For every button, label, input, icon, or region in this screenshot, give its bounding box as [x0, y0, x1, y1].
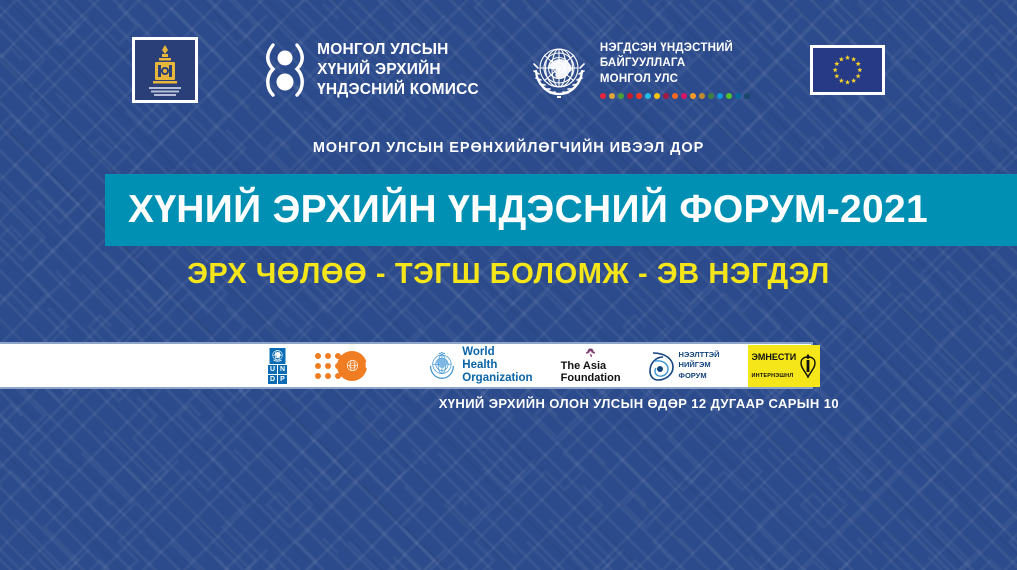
sdg-dot — [600, 93, 606, 99]
title-band: ХҮНИЙ ЭРХИЙН ҮНДЭСНИЙ ФОРУМ-2021 — [105, 174, 1017, 246]
poster-canvas: МОНГОЛ УЛСЫН ХҮНИЙ ЭРХИЙН ҮНДЭСНИЙ КОМИС… — [0, 0, 1017, 570]
un-logo-text: НЭГДСЭН ҮНДЭСТНИЙ БАЙГУУЛЛАГА МОНГОЛ УЛС — [600, 41, 750, 87]
undp-letter: P — [278, 375, 287, 384]
sdg-color-dots — [600, 93, 750, 99]
sdg-dot — [744, 93, 750, 99]
sdg-dot — [618, 93, 624, 99]
european-union-flag — [810, 45, 885, 95]
undp-logo-icon — [269, 348, 286, 364]
un-emblem-small-icon — [345, 358, 360, 373]
sdg-dot — [735, 93, 741, 99]
amnesty-wordmark: ЭМНЕСТИ ИНТЕРНЭШНЛ — [752, 342, 797, 390]
sdg-dot — [645, 93, 651, 99]
open-society-forum-logo-icon — [649, 351, 675, 381]
undp-letter: U — [268, 365, 277, 374]
asia-foundation-wordmark: The Asia Foundation — [561, 360, 621, 384]
international-human-rights-day-line: ХҮНИЙ ЭРХИЙН ОЛОН УЛСЫН ӨДӨР 12 ДУГААР С… — [0, 396, 1017, 411]
page-title: ХҮНИЙ ЭРХИЙН ҮНДЭСНИЙ ФОРУМ-2021 — [128, 188, 928, 232]
undp-letter: N — [278, 365, 287, 374]
human-figure-icon — [264, 42, 306, 98]
eu-flag-icon — [813, 48, 882, 92]
slogan-text: ЭРХ ЧӨЛӨӨ - ТЭГШ БОЛОМЖ - ЭВ НЭГДЭЛ — [0, 258, 1017, 291]
sdg-dot — [627, 93, 633, 99]
amnesty-name: ЭМНЕСТИ — [752, 352, 797, 362]
patronage-line: МОНГОЛ УЛСЫН ЕРӨНХИЙЛӨГЧИЙН ИВЭЭЛ ДОР — [0, 140, 1017, 156]
sdg-dot — [699, 93, 705, 99]
sdg-dot — [708, 93, 714, 99]
sdg-dot — [663, 93, 669, 99]
sdg-dot — [726, 93, 732, 99]
partner-logo-bar: UNDP UNF — [0, 342, 813, 389]
partner-logo-unfpa: UNFPA — [315, 348, 399, 384]
unfpa-circle-mark — [337, 351, 367, 381]
undp-letter: D — [268, 375, 277, 384]
partner-logo-who: World Health Organization — [427, 348, 532, 384]
sdg-dot — [636, 93, 642, 99]
partner-logo-asia-foundation: The Asia Foundation — [561, 348, 621, 384]
header-logo-row: МОНГОЛ УЛСЫН ХҮНИЙ ЭРХИЙН ҮНДЭСНИЙ КОМИС… — [0, 28, 1017, 112]
asia-foundation-logo-icon — [581, 348, 600, 358]
partner-logo-undp: UNDP — [268, 348, 287, 384]
mongolia-soyombo-emblem-icon — [135, 40, 195, 100]
who-wordmark: World Health Organization — [462, 346, 532, 385]
nhrc-mongolia-logo: МОНГОЛ УЛСЫН ХҮНИЙ ЭРХИЙН ҮНДЭСНИЙ КОМИС… — [264, 40, 479, 100]
united-nations-mongolia-logo: НЭГДСЭН ҮНДЭСТНИЙ БАЙГУУЛЛАГА МОНГОЛ УЛС — [527, 38, 750, 102]
nhrc-logo-text: МОНГОЛ УЛСЫН ХҮНИЙ ЭРХИЙН ҮНДЭСНИЙ КОМИС… — [317, 40, 479, 100]
undp-letters: UNDP — [268, 365, 287, 384]
sdg-dot — [681, 93, 687, 99]
amnesty-subname: ИНТЕРНЭШНЛ — [752, 373, 797, 379]
amnesty-candle-icon — [800, 353, 816, 379]
sdg-dot — [654, 93, 660, 99]
unfpa-wordmark: UNFPA — [365, 360, 399, 372]
who-logo-icon — [427, 351, 457, 381]
state-emblem-of-mongolia — [132, 37, 198, 103]
sdg-dot — [717, 93, 723, 99]
sdg-dot — [609, 93, 615, 99]
sdg-dot — [672, 93, 678, 99]
un-emblem-icon — [527, 38, 591, 102]
sdg-dot — [690, 93, 696, 99]
open-society-forum-wordmark: НЭЭЛТТЭЙ НИЙГЭМ ФОРУМ — [679, 350, 720, 380]
partner-logo-open-society-forum: НЭЭЛТТЭЙ НИЙГЭМ ФОРУМ — [649, 348, 720, 384]
partner-logo-amnesty: ЭМНЕСТИ ИНТЕРНЭШНЛ — [748, 345, 821, 387]
